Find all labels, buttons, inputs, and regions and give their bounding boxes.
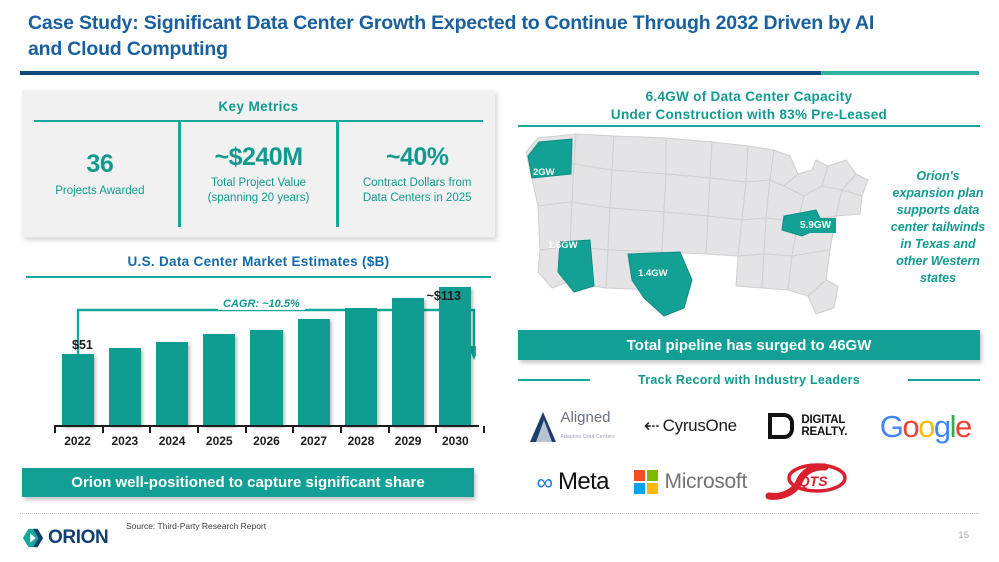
chart-x-tick-label: 2029: [385, 434, 432, 448]
chart-data-label-last: ~$113: [427, 289, 461, 303]
chart-bar: [298, 319, 330, 426]
map-side-note: Orion's expansion plan supports data cen…: [886, 168, 990, 287]
chart-x-tick-label: 2022: [54, 434, 101, 448]
metric-value: ~$240M: [187, 143, 331, 172]
market-estimates-chart-panel: U.S. Data Center Market Estimates ($B) C…: [22, 252, 495, 501]
aligned-triangle-icon: [530, 412, 556, 442]
track-record-heading: Track Record with Industry Leaders: [518, 373, 980, 387]
logo-cyrusone: ⇠ CyrusOne: [632, 416, 750, 436]
chart-plot-area: CAGR: ~10.5% $51 ~$113 20222023202420252…: [32, 278, 485, 448]
logo-google: Google: [867, 411, 985, 442]
chart-axis-tick: [102, 426, 104, 433]
key-metrics-panel: Key Metrics 36 Projects Awarded ~$240M T…: [22, 90, 495, 237]
chart-title: U.S. Data Center Market Estimates ($B): [22, 252, 495, 269]
pipeline-banner: Total pipeline has surged to 46GW: [518, 330, 980, 360]
track-record-rule-right: [908, 379, 980, 381]
partner-logos-row-2: ∞ Meta Microsoft QTS: [514, 454, 984, 510]
chart-bar: [345, 308, 377, 426]
chart-x-tick-label: 2028: [337, 434, 384, 448]
chart-x-tick-label: 2030: [432, 434, 479, 448]
orion-logo: ORION: [22, 527, 108, 549]
google-wordmark: Google: [880, 411, 971, 442]
title-divider: [20, 71, 979, 75]
logo-label: Meta: [558, 468, 609, 496]
page-number: 15: [958, 530, 969, 541]
orion-hexagon-icon: [22, 527, 44, 549]
page-title: Case Study: Significant Data Center Grow…: [28, 10, 888, 62]
chart-axis-tick: [435, 426, 437, 433]
chart-x-tick-label: 2027: [290, 434, 337, 448]
track-record-heading-text: Track Record with Industry Leaders: [600, 373, 898, 387]
chart-bar: [62, 354, 94, 426]
metric-projects-awarded: 36 Projects Awarded: [22, 122, 178, 227]
logo-digital-realty: DIGITAL REALTY.: [749, 413, 867, 439]
logo-label: Aligned: [560, 409, 610, 426]
footer-divider: [20, 513, 979, 514]
metric-total-project-value: ~$240M Total Project Value (spanning 20 …: [178, 122, 337, 227]
chart-bar: [439, 287, 471, 426]
chart-bars: [54, 278, 479, 426]
map-label-virginia: 5.9GW: [795, 218, 836, 233]
chart-x-tick-label: 2023: [101, 434, 148, 448]
microsoft-squares-icon: [634, 470, 658, 494]
chart-bar-wrap: [196, 278, 243, 426]
chart-x-tick-label: 2024: [148, 434, 195, 448]
chart-bar: [392, 298, 424, 426]
chart-axis-tick: [292, 426, 294, 433]
chart-axis-tick: [483, 426, 485, 433]
chart-bar-wrap: [101, 278, 148, 426]
chart-x-tick-label: 2025: [196, 434, 243, 448]
chart-bar-wrap: [337, 278, 384, 426]
chart-bar-wrap: [243, 278, 290, 426]
qts-swirl-icon: QTS: [765, 462, 851, 502]
metric-label: Projects Awarded: [28, 184, 172, 199]
logo-aligned: Aligned Adaptive Data Centers: [514, 410, 632, 442]
metric-sublabel: (spanning 20 years): [187, 191, 331, 206]
map-heading-underline: [518, 125, 980, 127]
chart-axis-tick: [388, 426, 390, 433]
chart-bar: [109, 348, 141, 426]
map-label-texas: 1.4GW: [638, 268, 668, 279]
chart-bar: [156, 342, 188, 426]
title-divider-navy: [20, 71, 821, 75]
logo-qts: QTS: [749, 462, 867, 502]
chart-x-tick-labels: 202220232024202520262027202820292030: [54, 434, 479, 448]
logo-label: CyrusOne: [663, 416, 737, 436]
key-metrics-heading: Key Metrics: [22, 90, 495, 114]
chart-bar-wrap: [290, 278, 337, 426]
map-heading: 6.4GW of Data Center Capacity Under Cons…: [514, 88, 984, 124]
chart-bar-wrap: [148, 278, 195, 426]
title-divider-teal: [821, 71, 979, 75]
map-label-arizona: 1.6GW: [548, 240, 578, 251]
metric-label: Contract Dollars from: [345, 176, 489, 191]
map-state-texas: [628, 252, 692, 316]
chart-x-tick-label: 2026: [243, 434, 290, 448]
key-metrics-row: 36 Projects Awarded ~$240M Total Project…: [22, 122, 495, 227]
metric-contract-dollars: ~40% Contract Dollars from Data Centers …: [336, 122, 495, 227]
map-heading-line2: Under Construction with 83% Pre-Leased: [514, 106, 984, 124]
chart-axis-tick: [149, 426, 151, 433]
digital-realty-brackets-icon: [768, 413, 794, 439]
chart-axis-tick: [245, 426, 247, 433]
meta-infinity-icon: ∞: [537, 471, 553, 494]
chart-bar-wrap: [54, 278, 101, 426]
logo-label: QTS: [799, 473, 828, 489]
chart-axis-tick: [54, 426, 56, 433]
logo-label: DIGITAL: [801, 414, 845, 426]
metric-value: ~40%: [345, 143, 489, 172]
metric-label: Total Project Value: [187, 176, 331, 191]
map-heading-line1: 6.4GW of Data Center Capacity: [514, 88, 984, 106]
metric-value: 36: [28, 150, 172, 179]
orion-wordmark: ORION: [48, 527, 108, 549]
metric-sublabel: Data Centers in 2025: [345, 191, 489, 206]
logo-tagline: Adaptive Data Centers: [560, 434, 615, 440]
chart-bar: [203, 334, 235, 426]
logo-meta: ∞ Meta: [514, 468, 632, 496]
logo-label: Microsoft: [665, 470, 747, 494]
track-record-rule-left: [518, 379, 590, 381]
chart-axis-tick: [197, 426, 199, 433]
logo-microsoft: Microsoft: [632, 470, 750, 494]
chart-bar-wrap: [385, 278, 432, 426]
partner-logos-row-1: Aligned Adaptive Data Centers ⇠ CyrusOne…: [514, 398, 984, 454]
map-label-oregon: 2GW: [533, 167, 555, 178]
chart-x-axis: [54, 425, 479, 427]
chart-banner: Orion well-positioned to capture signifi…: [22, 468, 474, 497]
chart-data-label-first: $51: [72, 338, 93, 352]
logo-label-2: REALTY.: [801, 426, 847, 438]
chart-axis-tick: [340, 426, 342, 433]
source-note: Source: Third-Party Research Report: [126, 521, 266, 531]
partner-logos: Aligned Adaptive Data Centers ⇠ CyrusOne…: [514, 398, 984, 510]
chart-bar: [250, 330, 282, 426]
cyrusone-mark-icon: ⇠: [644, 417, 660, 436]
